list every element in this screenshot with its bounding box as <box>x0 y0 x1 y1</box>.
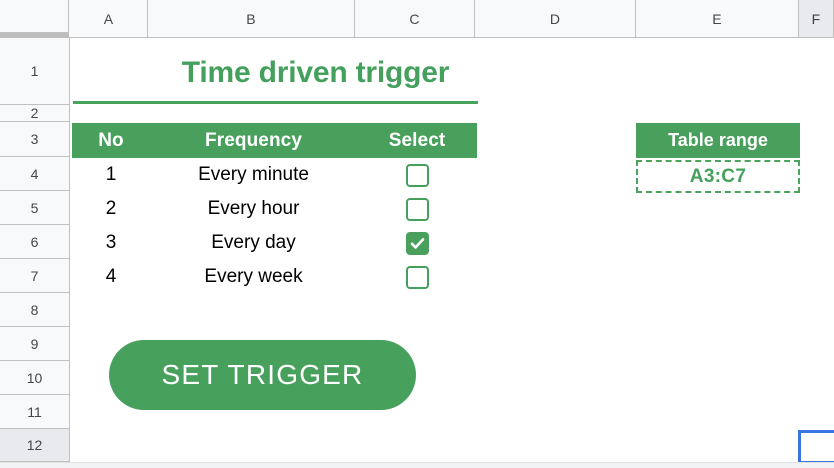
cell-select <box>357 198 477 221</box>
row-header-3[interactable]: 3 <box>0 122 69 157</box>
checkbox-every-minute[interactable] <box>406 164 429 187</box>
table-range-header: Table range <box>636 123 800 158</box>
row-header-12[interactable]: 12 <box>0 429 69 462</box>
grid-body: Time driven trigger No Frequency Select … <box>70 38 834 462</box>
row-header-10[interactable]: 10 <box>0 361 69 395</box>
check-icon <box>409 235 426 252</box>
column-header-frequency: Frequency <box>150 130 357 152</box>
table-range-header-label: Table range <box>668 130 768 151</box>
row-header-1[interactable]: 1 <box>0 38 69 105</box>
title-underline <box>73 101 478 104</box>
column-header-select: Select <box>357 130 477 152</box>
checkbox-every-hour[interactable] <box>406 198 429 221</box>
checkbox-every-week[interactable] <box>406 266 429 289</box>
row-header-6[interactable]: 6 <box>0 225 69 259</box>
column-header-a[interactable]: A <box>70 0 148 37</box>
row-header-2[interactable]: 2 <box>0 105 69 122</box>
row-header-9[interactable]: 9 <box>0 327 69 361</box>
column-header-d[interactable]: D <box>475 0 636 37</box>
table-header-row: No Frequency Select <box>72 123 477 158</box>
row-header-7[interactable]: 7 <box>0 259 69 293</box>
table-row: 3Every day <box>72 226 477 260</box>
table-row: 4Every week <box>72 260 477 294</box>
table-row: 2Every hour <box>72 192 477 226</box>
set-trigger-button[interactable]: SET TRIGGER <box>109 340 416 410</box>
cell-frequency: Every hour <box>150 198 357 220</box>
row-header-11[interactable]: 11 <box>0 395 69 429</box>
cell-frequency: Every day <box>150 232 357 254</box>
cell-select <box>357 164 477 187</box>
column-header-c[interactable]: C <box>355 0 475 37</box>
column-header-strip: ABCDEF <box>0 0 834 38</box>
cell-no: 2 <box>72 198 150 220</box>
cell-frequency: Every minute <box>150 164 357 186</box>
cell-no: 4 <box>72 266 150 288</box>
column-header-no: No <box>72 130 150 152</box>
column-header-e[interactable]: E <box>636 0 799 37</box>
spreadsheet-canvas: ABCDEF 123456789101112 Time driven trigg… <box>0 0 834 468</box>
column-header-b[interactable]: B <box>148 0 355 37</box>
cell-select <box>357 266 477 289</box>
table-range-value-label: A3:C7 <box>690 166 746 188</box>
cell-select <box>357 232 477 255</box>
column-header-f[interactable]: F <box>799 0 834 37</box>
page-title: Time driven trigger <box>113 56 518 90</box>
row-header-5[interactable]: 5 <box>0 191 69 225</box>
row-header-4[interactable]: 4 <box>0 157 69 191</box>
checkbox-every-day[interactable] <box>406 232 429 255</box>
cell-no: 3 <box>72 232 150 254</box>
cell-no: 1 <box>72 164 150 186</box>
horizontal-scrollbar[interactable] <box>0 462 834 468</box>
set-trigger-button-label: SET TRIGGER <box>162 359 364 391</box>
table-row: 1Every minute <box>72 158 477 192</box>
table-range-value-cell[interactable]: A3:C7 <box>636 160 800 193</box>
row-header-strip: 123456789101112 <box>0 38 70 468</box>
select-all-corner[interactable] <box>0 0 69 33</box>
active-cell-selection[interactable] <box>798 430 834 462</box>
cell-frequency: Every week <box>150 266 357 288</box>
row-header-8[interactable]: 8 <box>0 293 69 327</box>
